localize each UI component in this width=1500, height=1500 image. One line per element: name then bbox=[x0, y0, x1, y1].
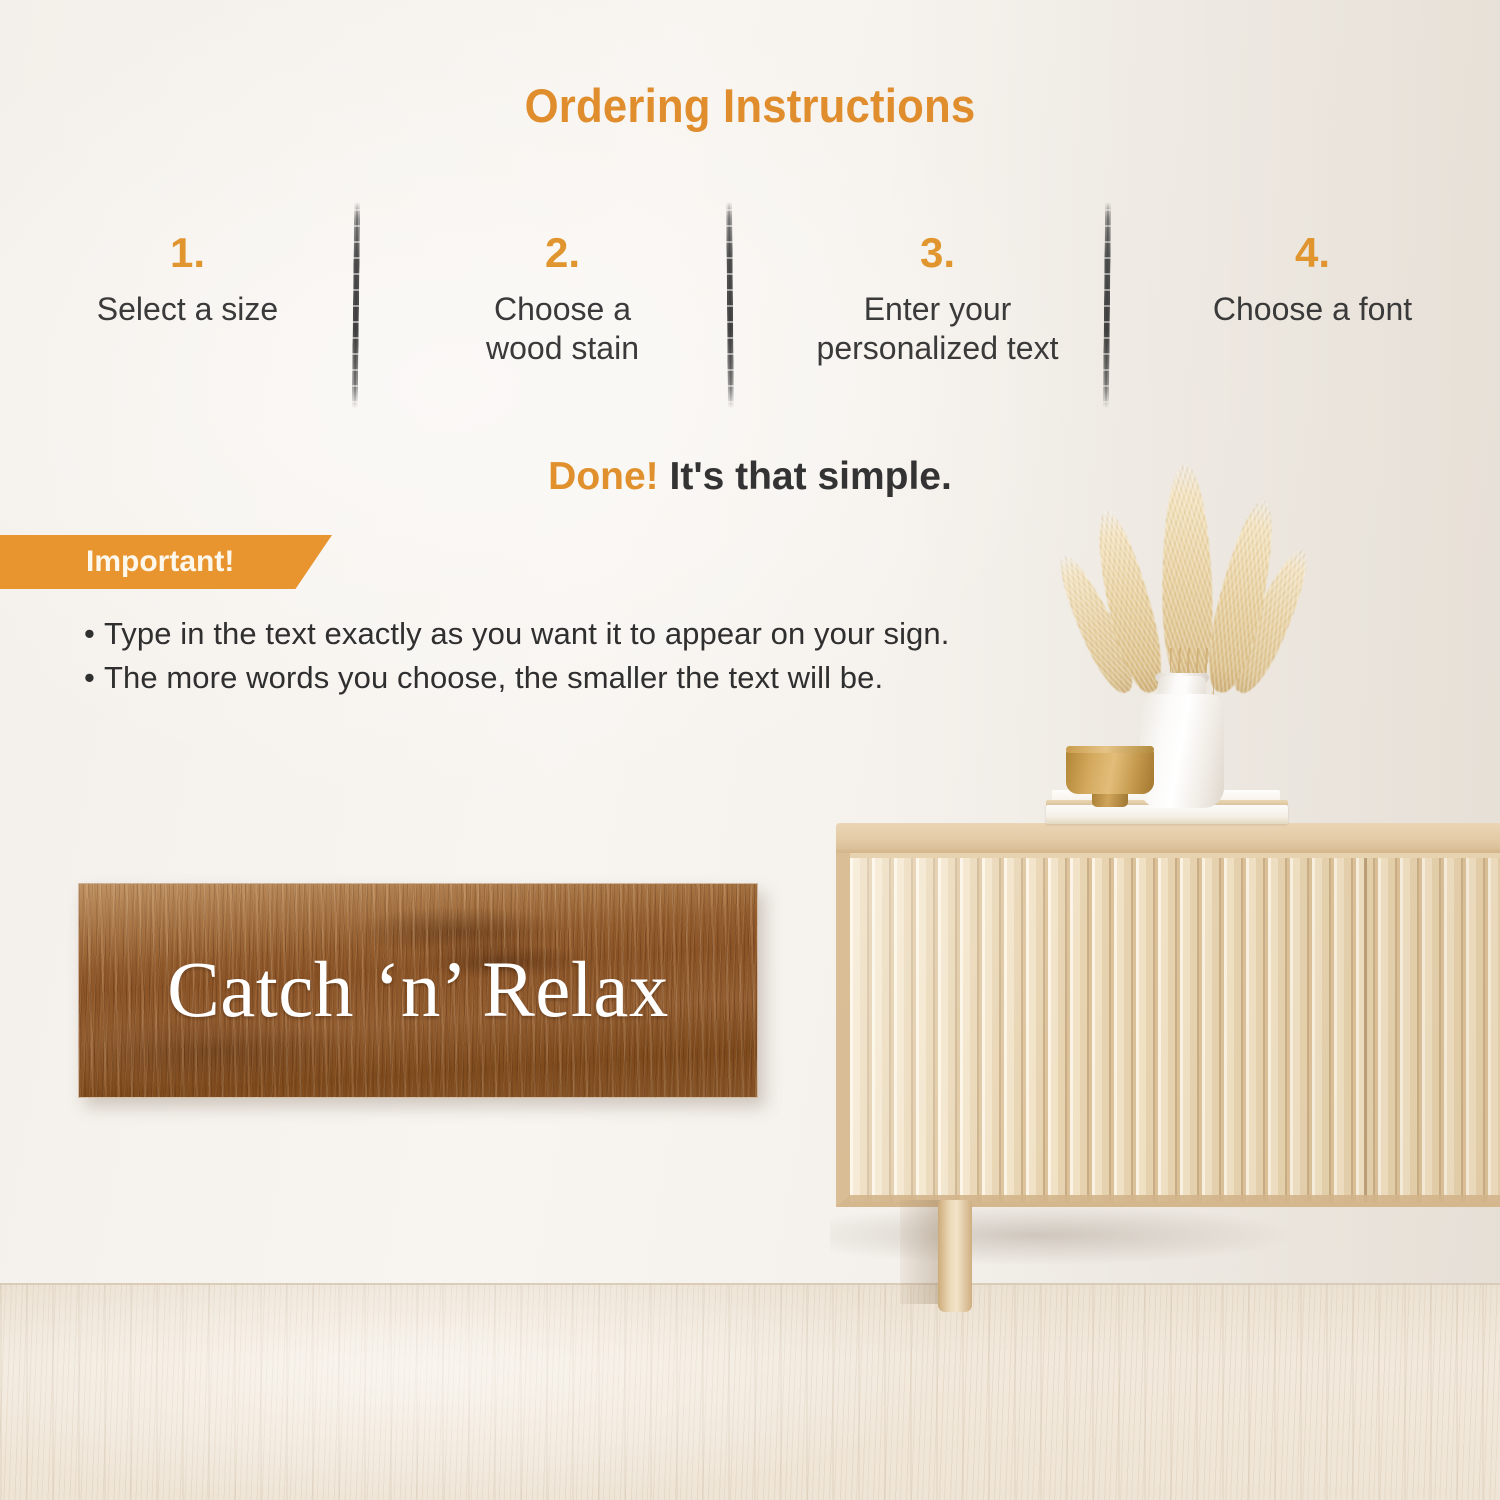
note-1: •Type in the text exactly as you want it… bbox=[84, 612, 1204, 656]
bowl-rim bbox=[1066, 746, 1154, 753]
step-2: 2. Choose awood stain bbox=[375, 232, 750, 368]
bullet-marker-2: • bbox=[84, 660, 95, 695]
steps-row: 1. Select a size 2. Choose awood stain 3… bbox=[0, 232, 1500, 368]
step-3-number: 3. bbox=[750, 232, 1125, 274]
step-3-label: Enter yourpersonalized text bbox=[750, 290, 1125, 368]
step-4-number: 4. bbox=[1125, 232, 1500, 274]
note-2-text: The more words you choose, the smaller t… bbox=[104, 660, 883, 695]
step-4: 4. Choose a font bbox=[1125, 232, 1500, 368]
step-4-label: Choose a font bbox=[1125, 290, 1500, 329]
important-banner: Important! bbox=[0, 535, 332, 589]
step-1-label: Select a size bbox=[0, 290, 375, 329]
floor-highlight bbox=[0, 1283, 1500, 1500]
step-1: 1. Select a size bbox=[0, 232, 375, 368]
note-1-text: Type in the text exactly as you want it … bbox=[104, 616, 950, 651]
sideboard-frame bbox=[836, 853, 1500, 1207]
step-2-label: Choose awood stain bbox=[375, 290, 750, 368]
page-title: Ordering Instructions bbox=[53, 78, 1448, 133]
room-photo-background bbox=[0, 0, 1500, 1500]
wall-floor-junction bbox=[0, 1283, 1500, 1285]
important-notes: •Type in the text exactly as you want it… bbox=[84, 612, 1204, 700]
sideboard-leg-shadow bbox=[900, 1200, 942, 1304]
wood-sign-text: Catch ‘n’ Relax bbox=[78, 883, 758, 1098]
note-2: •The more words you choose, the smaller … bbox=[84, 656, 1204, 700]
step-3: 3. Enter yourpersonalized text bbox=[750, 232, 1125, 368]
sideboard-leg bbox=[938, 1200, 972, 1312]
product-listing-image: Ordering Instructions 1. Select a size 2… bbox=[0, 0, 1500, 1500]
done-rest: It's that simple. bbox=[670, 455, 952, 498]
done-line: Done! It's that simple. bbox=[0, 455, 1500, 499]
step-2-number: 2. bbox=[375, 232, 750, 274]
important-banner-label: Important! bbox=[86, 545, 234, 579]
wooden-bowl bbox=[1066, 748, 1154, 794]
done-highlight: Done! bbox=[548, 455, 659, 498]
bullet-marker-1: • bbox=[84, 616, 95, 651]
step-1-number: 1. bbox=[0, 232, 375, 274]
